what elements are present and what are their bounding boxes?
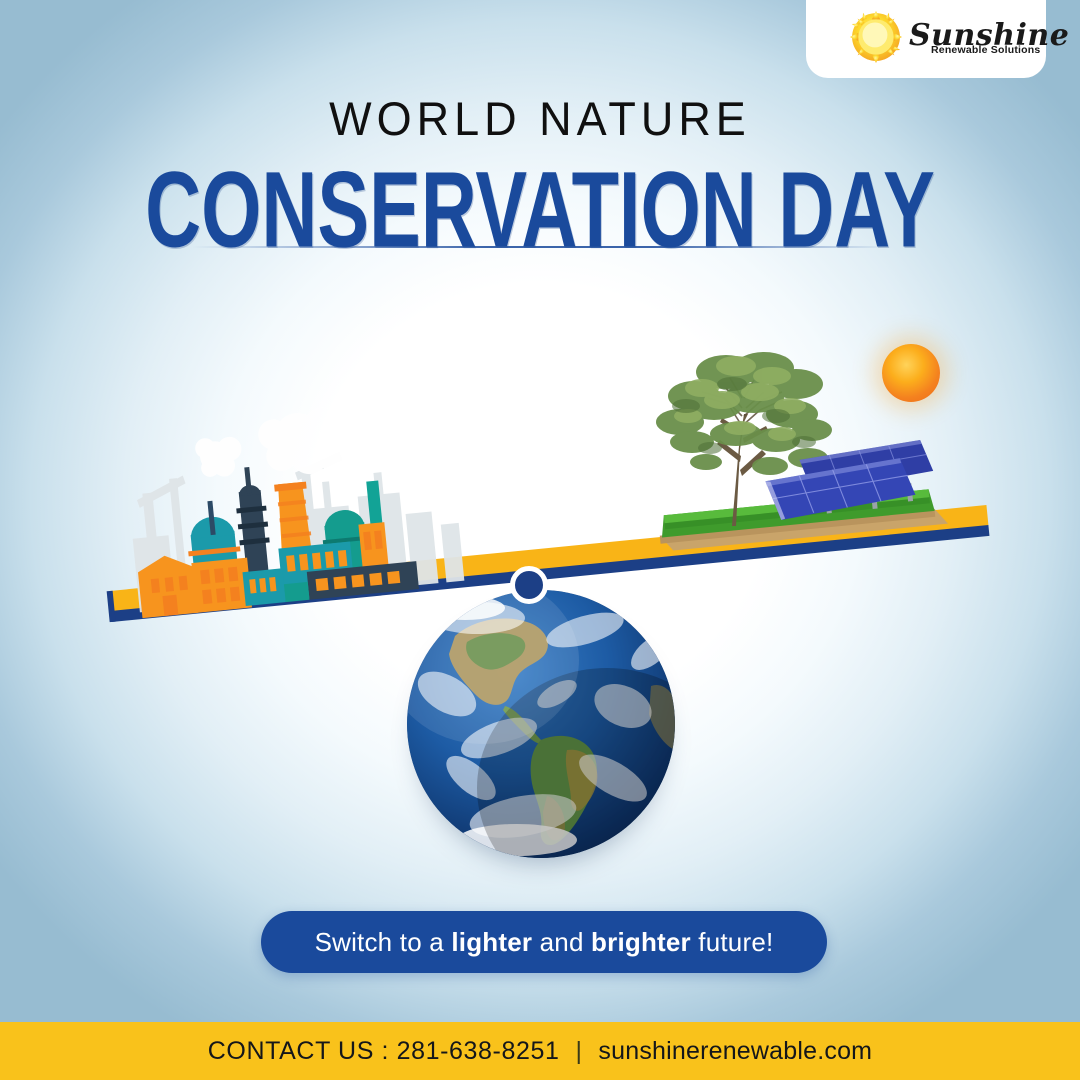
cta-text-part3: future! — [691, 927, 774, 958]
cta-text-part1: Switch to a — [315, 927, 452, 958]
sun-burst-icon — [850, 11, 902, 63]
title-line-1: WORLD NATURE — [0, 95, 1080, 143]
industrial-factory-illustration — [118, 404, 538, 636]
nature-solar-illustration — [636, 330, 1006, 560]
cta-text-part2: and — [532, 927, 591, 958]
poster-canvas: Sunshine Renewable Solutions WORLD NATUR… — [0, 0, 1080, 1080]
brand-logo-text: Sunshine Renewable Solutions — [909, 21, 1069, 56]
website-link[interactable]: sunshinerenewable.com — [598, 1037, 872, 1066]
page-title: WORLD NATURE CONSERVATION DAY — [0, 96, 1080, 233]
title-line-2: CONSERVATION DAY — [0, 157, 1080, 265]
earth-globe-americas — [407, 590, 675, 858]
brand-logo-card[interactable]: Sunshine Renewable Solutions — [806, 0, 1046, 78]
fulcrum-pivot — [510, 566, 548, 604]
cta-button[interactable]: Switch to a lighter and brighter future! — [261, 911, 827, 973]
footer-separator: | — [576, 1037, 583, 1066]
title-divider — [192, 246, 892, 248]
cta-bold-brighter: brighter — [591, 927, 691, 958]
footer-bar: CONTACT US : 281-638-8251 | sunshinerene… — [0, 1022, 1080, 1080]
contact-phone[interactable]: CONTACT US : 281-638-8251 — [208, 1037, 560, 1066]
cta-bold-lighter: lighter — [451, 927, 532, 958]
